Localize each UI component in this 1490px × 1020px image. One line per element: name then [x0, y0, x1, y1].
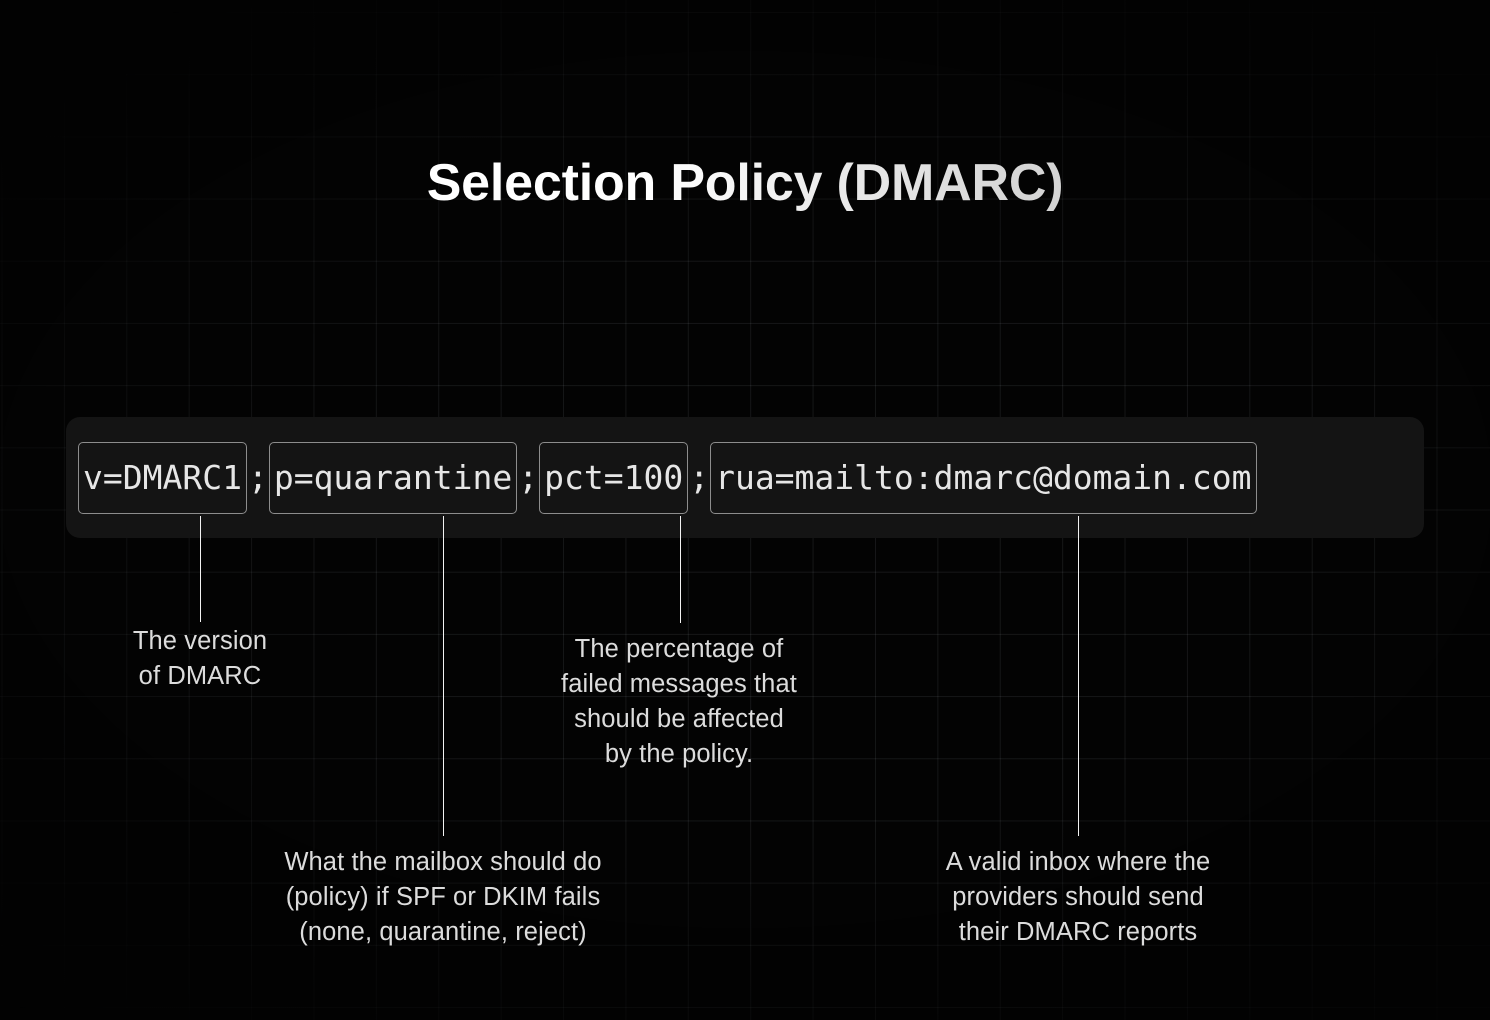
callout-reporting: A valid inbox where the providers should…: [875, 845, 1281, 950]
record-segment-version[interactable]: v=DMARC1: [78, 442, 247, 514]
record-segment-reporting[interactable]: rua=mailto:dmarc@domain.com: [710, 442, 1256, 514]
connector-line-policy: [443, 516, 444, 836]
dmarc-record-panel: v=DMARC1 ; p=quarantine ; pct=100 ; rua=…: [66, 417, 1424, 538]
record-separator-3: ;: [688, 461, 710, 494]
callout-version: The version of DMARC: [80, 624, 320, 694]
record-segment-policy[interactable]: p=quarantine: [269, 442, 517, 514]
record-separator-1: ;: [247, 461, 269, 494]
slide-canvas: Selection Policy (DMARC) v=DMARC1 ; p=qu…: [0, 0, 1490, 1020]
connector-line-percent: [680, 516, 681, 623]
record-segment-percent[interactable]: pct=100: [539, 442, 688, 514]
connector-line-version: [200, 516, 201, 622]
callout-policy: What the mailbox should do (policy) if S…: [233, 845, 653, 950]
connector-line-reporting: [1078, 516, 1079, 836]
record-separator-2: ;: [517, 461, 539, 494]
page-title: Selection Policy (DMARC): [0, 149, 1490, 217]
dmarc-record-line: v=DMARC1 ; p=quarantine ; pct=100 ; rua=…: [78, 442, 1257, 514]
callout-percent: The percentage of failed messages that s…: [509, 632, 849, 772]
